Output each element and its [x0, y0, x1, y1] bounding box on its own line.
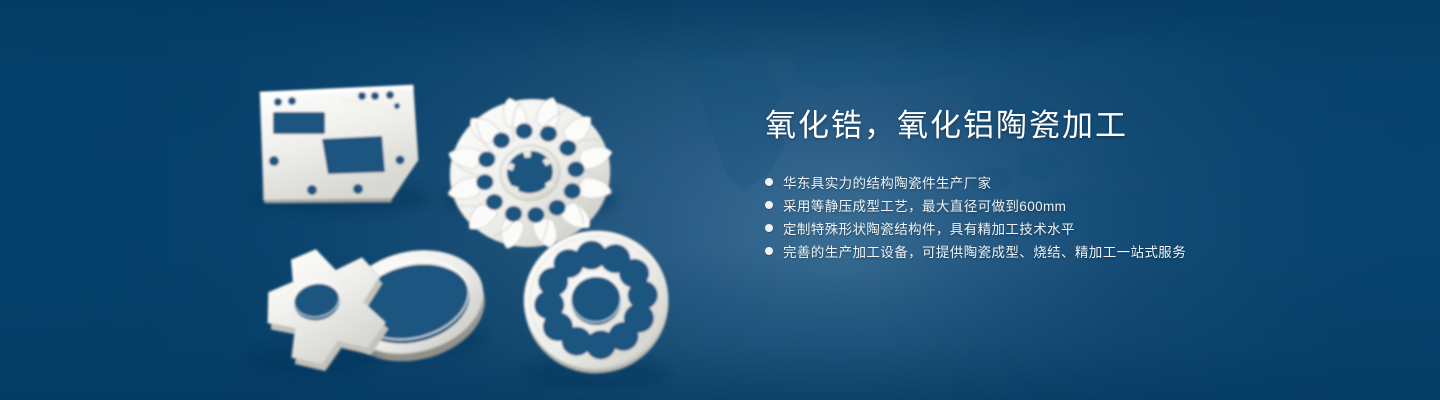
ceramic-machined-plate [248, 85, 432, 214]
ceramic-products-image [230, 40, 710, 390]
bullet-dot-icon [765, 224, 773, 232]
bullet-dot-icon [765, 178, 773, 186]
bullet-dot-icon [765, 247, 773, 255]
banner-headline: 氧化锆，氧化铝陶瓷加工 [765, 110, 1385, 141]
bullet-dot-icon [765, 201, 773, 209]
feature-text: 完善的生产加工设备，可提供陶瓷成型、烧结、精加工一站式服务 [783, 241, 1186, 261]
feature-text: 华东具实力的结构陶瓷件生产厂家 [783, 172, 992, 192]
feature-list: 华东具实力的结构陶瓷件生产厂家 采用等静压成型工艺，最大直径可做到600mm 定… [765, 170, 1385, 262]
banner-content: 氧化锆，氧化铝陶瓷加工 华东具实力的结构陶瓷件生产厂家 采用等静压成型工艺，最大… [765, 110, 1385, 262]
ceramic-perforated-valve-plate [517, 224, 675, 390]
list-item: 完善的生产加工设备，可提供陶瓷成型、烧结、精加工一站式服务 [765, 239, 1385, 262]
list-item: 华东具实力的结构陶瓷件生产厂家 [765, 170, 1385, 193]
list-item: 定制特殊形状陶瓷结构件，具有精加工技术水平 [765, 216, 1385, 239]
feature-text: 采用等静压成型工艺，最大直径可做到600mm [783, 195, 1066, 215]
list-item: 采用等静压成型工艺，最大直径可做到600mm [765, 193, 1385, 216]
feature-text: 定制特殊形状陶瓷结构件，具有精加工技术水平 [783, 218, 1075, 238]
product-banner: 氧化锆，氧化铝陶瓷加工 华东具实力的结构陶瓷件生产厂家 采用等静压成型工艺，最大… [0, 0, 1440, 400]
